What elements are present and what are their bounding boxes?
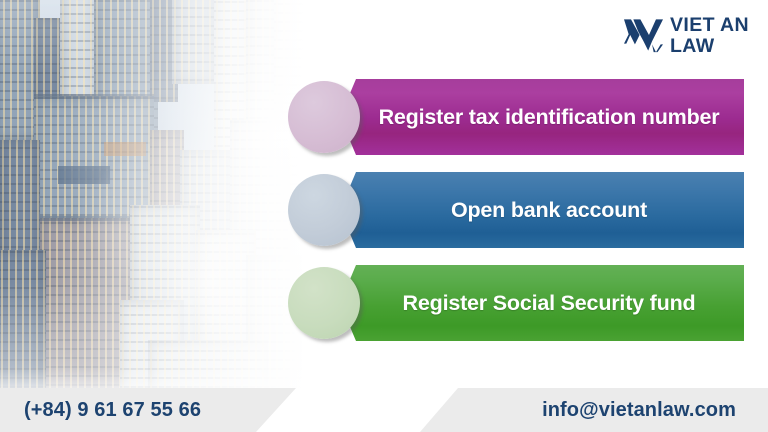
- step-banner-open-bank-account[interactable]: Open bank account: [340, 172, 744, 248]
- logo-wordmark: VIET AN LAW: [670, 14, 754, 56]
- step-banner-label: Register Social Security fund: [403, 291, 696, 315]
- city-skyline-background-image: [0, 0, 340, 392]
- footer-phone-number[interactable]: (+84) 9 61 67 55 66: [24, 399, 201, 422]
- logo-text-line1: VIET AN: [670, 14, 754, 35]
- footer-phone-band: (+84) 9 61 67 55 66: [0, 388, 296, 432]
- right-fade-overlay: [0, 0, 340, 392]
- step-banner-register-social-security-fund[interactable]: Register Social Security fund: [340, 265, 744, 341]
- footer-email-band: info@vietanlaw.com: [420, 388, 768, 432]
- circle-bullet-icon: [288, 174, 360, 246]
- slide-canvas: VIET AN LAW Register tax identification …: [0, 0, 768, 432]
- circle-bullet-icon: [288, 81, 360, 153]
- step-banner-label: Register tax identification number: [379, 105, 720, 129]
- footer-email-address[interactable]: info@vietanlaw.com: [542, 399, 736, 422]
- double-chevron-x-logo-icon: [624, 13, 663, 57]
- logo-text-line2: LAW: [670, 35, 754, 56]
- logo-line2-text: LAW: [670, 35, 715, 56]
- step-banner-register-tax-identification-number[interactable]: Register tax identification number: [340, 79, 744, 155]
- circle-bullet-icon: [288, 267, 360, 339]
- step-banner-label: Open bank account: [451, 198, 647, 222]
- logo-line1-text: VIET AN: [670, 14, 749, 35]
- vietan-law-logo: VIET AN LAW: [624, 10, 754, 60]
